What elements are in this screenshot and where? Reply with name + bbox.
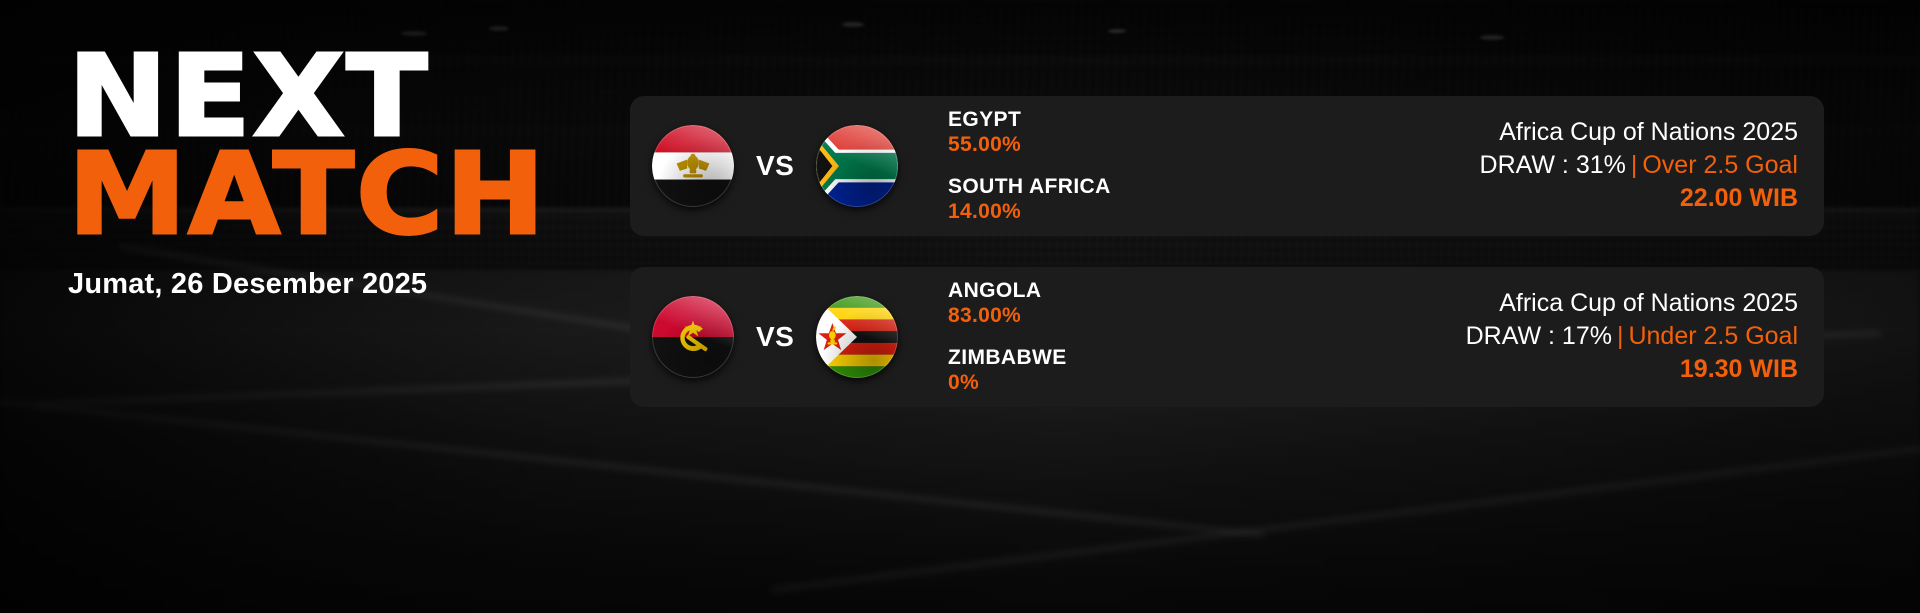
home-team: EGYPT 55.00%: [948, 107, 1274, 158]
vs-label: VS: [756, 150, 794, 182]
headline-block: NEXT MATCH Jumat, 26 Desember 2025: [68, 52, 588, 301]
away-team-percent: 14.00%: [948, 199, 1274, 225]
egypt-flag-icon: [652, 125, 734, 207]
home-team-name: EGYPT: [948, 107, 1274, 132]
match-meta: Africa Cup of Nations 2025 DRAW : 31%|Ov…: [1480, 116, 1798, 216]
away-team-percent: 0%: [948, 370, 1274, 396]
match-teams: ANGOLA 83.00% ZIMBABWE 0%: [944, 278, 1274, 397]
draw-percent: DRAW : 17%: [1466, 322, 1612, 350]
away-team-name: ZIMBABWE: [948, 345, 1274, 370]
competition-name: Africa Cup of Nations 2025: [1480, 116, 1798, 149]
away-team-name: SOUTH AFRICA: [948, 174, 1274, 199]
match-card[interactable]: VS: [630, 267, 1824, 407]
south-africa-flag-icon: [816, 125, 898, 207]
away-team: ZIMBABWE 0%: [948, 345, 1274, 396]
goal-line: Over 2.5 Goal: [1642, 151, 1798, 179]
headline-match: MATCH: [68, 150, 619, 242]
home-team-percent: 83.00%: [948, 303, 1274, 329]
flag-ring: [816, 125, 898, 207]
match-teams: EGYPT 55.00% SOUTH AFRICA 14.00%: [944, 107, 1274, 226]
draw-and-goal-line: DRAW : 17%|Under 2.5 Goal: [1466, 320, 1798, 354]
home-team-name: ANGOLA: [948, 278, 1274, 303]
vs-label: VS: [756, 321, 794, 353]
meta-separator: |: [1617, 322, 1624, 350]
match-card-list: VS: [630, 96, 1824, 407]
zimbabwe-flag-icon: [816, 296, 898, 378]
angola-flag-icon: [652, 296, 734, 378]
goal-line: Under 2.5 Goal: [1628, 322, 1798, 350]
match-flags: VS: [652, 125, 944, 207]
kickoff-time: 19.30 WIB: [1466, 353, 1798, 387]
match-meta: Africa Cup of Nations 2025 DRAW : 17%|Un…: [1466, 287, 1798, 387]
meta-separator: |: [1631, 151, 1638, 179]
home-team: ANGOLA 83.00%: [948, 278, 1274, 329]
flag-ring: [652, 125, 734, 207]
match-flags: VS: [652, 296, 944, 378]
away-team: SOUTH AFRICA 14.00%: [948, 174, 1274, 225]
flag-ring: [816, 296, 898, 378]
match-card[interactable]: VS: [630, 96, 1824, 236]
competition-name: Africa Cup of Nations 2025: [1466, 287, 1798, 320]
flag-ring: [652, 296, 734, 378]
kickoff-time: 22.00 WIB: [1480, 182, 1798, 216]
draw-percent: DRAW : 31%: [1480, 151, 1626, 179]
match-date: Jumat, 26 Desember 2025: [68, 268, 588, 301]
draw-and-goal-line: DRAW : 31%|Over 2.5 Goal: [1480, 149, 1798, 183]
home-team-percent: 55.00%: [948, 132, 1274, 158]
